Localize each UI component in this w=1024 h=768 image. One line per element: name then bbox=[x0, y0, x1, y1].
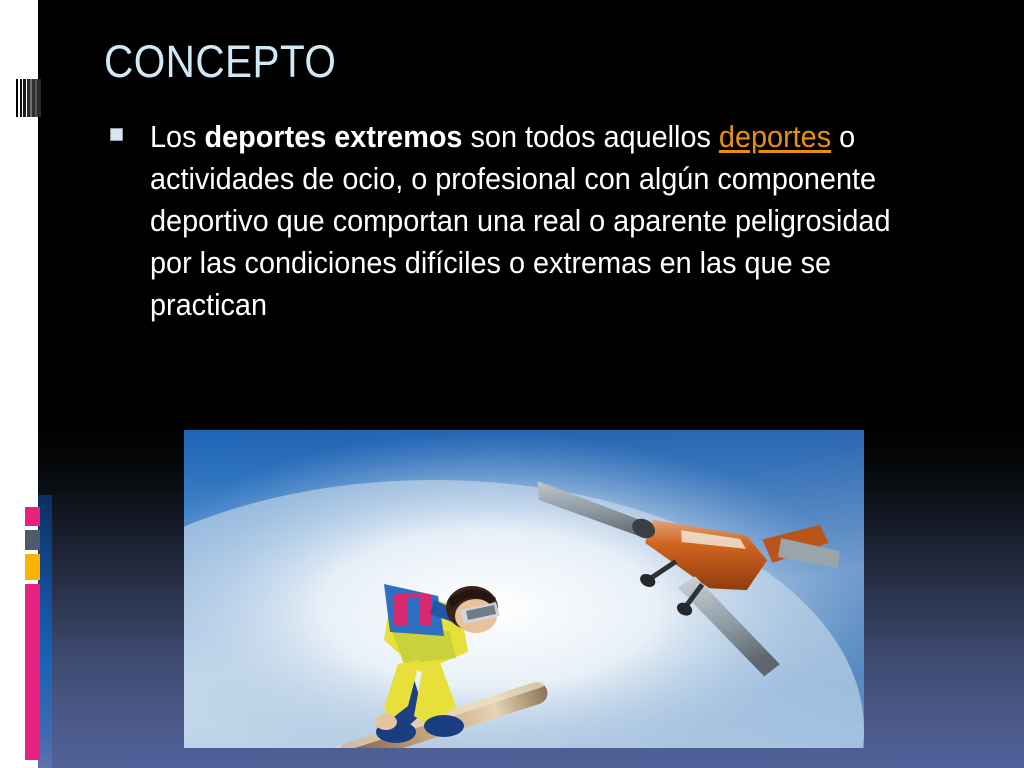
chip-gold bbox=[25, 554, 40, 580]
left-edge-glow bbox=[38, 495, 52, 768]
text-run-2: son todos aquellos bbox=[462, 119, 718, 154]
text-run-bold: deportes extremos bbox=[205, 119, 463, 154]
skysurfer-photo-illustration bbox=[184, 430, 864, 748]
chip-magenta bbox=[25, 507, 40, 526]
deportes-hyperlink[interactable]: deportes bbox=[719, 119, 831, 154]
bullet-list-item: Los deportes extremos son todos aquellos… bbox=[110, 116, 950, 326]
chip-magenta-long bbox=[25, 584, 40, 760]
page-title: CONCEPTO bbox=[104, 36, 336, 88]
bullet-text: Los deportes extremos son todos aquellos… bbox=[150, 116, 894, 326]
chip-slate bbox=[25, 530, 40, 550]
slide-root: CONCEPTO Los deportes extremos son todos… bbox=[0, 0, 1024, 768]
square-bullet-icon bbox=[110, 128, 123, 141]
text-run-1: Los bbox=[150, 119, 205, 154]
slide-photo bbox=[184, 430, 864, 748]
barcode-stripes-icon bbox=[15, 79, 41, 117]
